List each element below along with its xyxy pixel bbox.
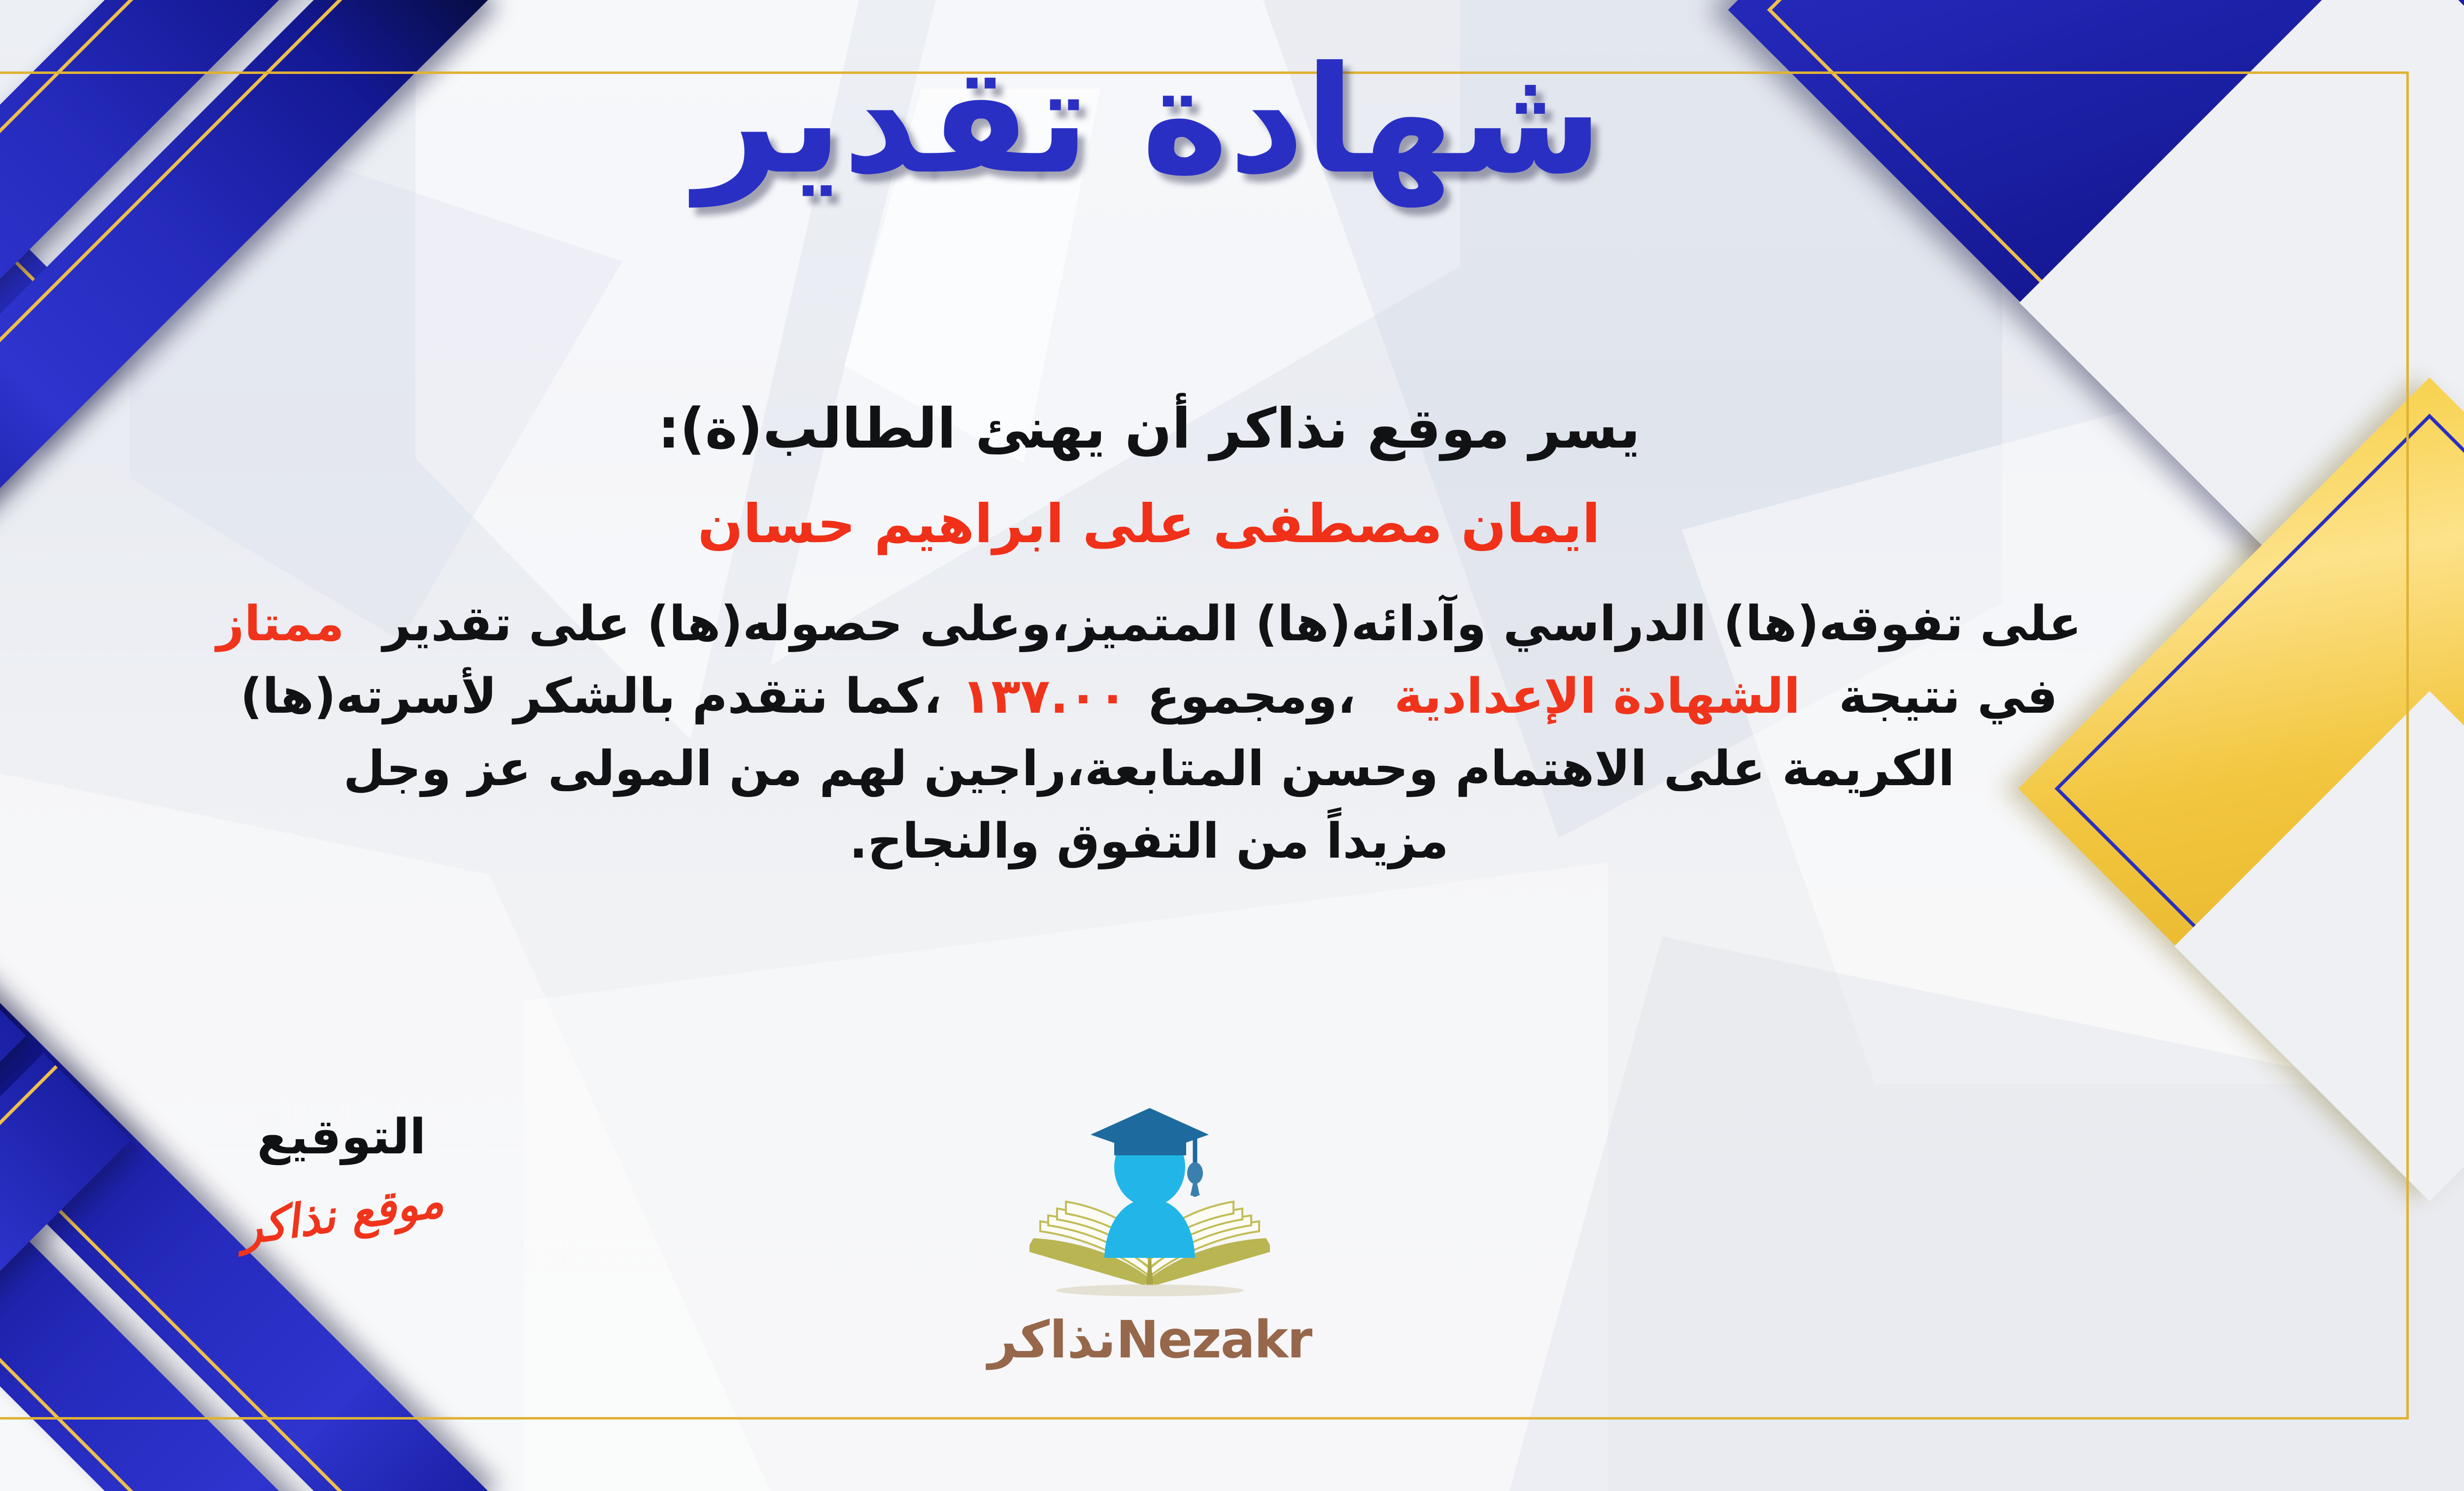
grade-value: ممتاز [216, 596, 344, 652]
citation-line-2-prefix: في نتيجة [1839, 668, 2057, 725]
lead-text: يسر موقع نذاكر أن يهنئ الطالب(ة): [0, 394, 2390, 463]
exam-name: الشهادة الإعدادية [1394, 668, 1800, 725]
signature-mark: موقع نذاكر [237, 1174, 447, 1255]
citation-line-1-text: على تفوقه(ها) الدراسي وآدائه(ها) المتميز… [383, 596, 2082, 652]
logo-wordmark: Nezakrنذاكر [967, 1314, 1332, 1365]
graduate-open-book-icon [1012, 1104, 1288, 1311]
signature-label: التوقيع [149, 1109, 534, 1165]
logo-name-en: Nezakr [1116, 1310, 1312, 1370]
certificate-body: يسر موقع نذاكر أن يهنئ الطالب(ة): ايمان … [0, 394, 2390, 878]
logo-name-ar: نذاكر [988, 1310, 1116, 1370]
student-name: ايمان مصطفى على ابراهيم حسان [0, 491, 2390, 557]
citation-line-2-suffix: ،كما نتقدم بالشكر لأسرته(ها) [240, 668, 942, 725]
certificate-page: شهادة تقدير يسر موقع نذاكر أن يهنئ الطال… [0, 0, 2464, 1491]
certificate-footer: التوقيع موقع نذاكر [0, 1109, 2464, 1454]
citation-line-2: في نتيجةالشهادة الإعدادية،ومجموع١٣٧.٠٠،ك… [0, 660, 2390, 733]
citation-total-label: ،ومجموع [1147, 668, 1356, 725]
site-logo: Nezakrنذاكر [967, 1104, 1332, 1365]
citation-line-4: مزيداً من التفوق والنجاح. [0, 805, 2390, 878]
signature-block: التوقيع موقع نذاكر [149, 1109, 534, 1241]
total-score: ١٣٧.٠٠ [961, 668, 1127, 725]
citation-line-3: الكريمة على الاهتمام وحسن المتابعة،راجين… [0, 733, 2390, 805]
citation-paragraph: على تفوقه(ها) الدراسي وآدائه(ها) المتميز… [0, 588, 2390, 878]
citation-line-1: على تفوقه(ها) الدراسي وآدائه(ها) المتميز… [0, 588, 2390, 660]
page-title: شهادة تقدير [0, 47, 2464, 195]
